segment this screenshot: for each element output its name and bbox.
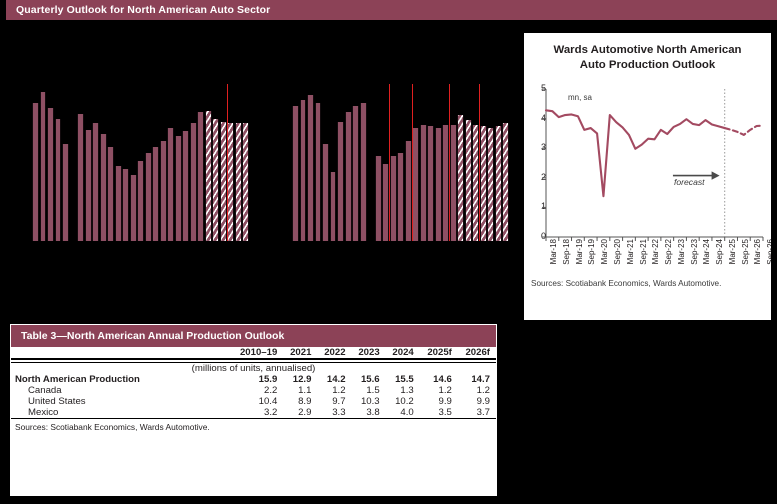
bar [55,119,62,241]
reference-line [227,84,228,241]
bar [137,161,144,241]
table-cell: 1.2 [317,385,351,396]
bar [62,144,69,241]
bar-chart-left [32,84,250,241]
bar [412,128,419,241]
bar [227,123,234,241]
bar [405,141,412,241]
x-axis-tick-label: Mar-21 [626,239,635,264]
x-axis-tick-label: Mar-25 [728,239,737,264]
table-cell: 15.5 [386,374,420,385]
production-table-card: Table 3—North American Annual Production… [10,324,497,496]
bar [502,123,509,241]
bar [457,115,464,241]
table-cell: 4.0 [386,407,420,418]
table-row: North American Production15.912.914.215.… [11,374,496,385]
table-cell: 9.9 [458,396,496,407]
bar [242,123,249,241]
table-cell: 10.3 [352,396,386,407]
bar [465,120,472,241]
bar [292,106,299,241]
table-row-label: Canada [11,385,229,396]
bar [307,95,314,241]
table-col-header: 2022 [317,347,351,359]
table-col-header: 2021 [283,347,317,359]
table-row: United States10.48.99.710.310.29.99.9 [11,396,496,407]
line-chart-sources: Sources: Scotiabank Economics, Wards Aut… [531,278,763,290]
x-axis-tick-label: Mar-26 [753,239,762,264]
screenshot-root: Quarterly Outlook for North American Aut… [0,0,777,504]
bar-chart-left-bars [32,84,250,241]
bar [495,126,502,241]
table-cell: 10.4 [229,396,283,407]
bar [205,111,212,241]
bar [235,123,242,241]
table-col-header: 2024 [386,347,420,359]
bar [160,141,167,241]
table-cell: 8.9 [283,396,317,407]
x-axis-tick-label: Sep-25 [741,239,750,265]
bar [435,128,442,241]
table-body: (millions of units, annualised)North Ame… [11,359,496,418]
x-axis-tick-label: Sep-22 [664,239,673,265]
bar [40,92,47,241]
table-row-label: North American Production [11,374,229,385]
bar [212,119,219,241]
table-row-label: Mexico [11,407,229,418]
line-chart-card: Wards Automotive North American Auto Pro… [524,33,771,320]
table-cell: 3.2 [229,407,283,418]
x-axis-tick-label: Mar-22 [651,239,660,264]
production-table: 2010–1920212022202320242025f2026f (milli… [11,347,496,418]
table-sources: Sources: Scotiabank Economics, Wards Aut… [11,418,496,435]
x-axis-tick-label: Mar-23 [677,239,686,264]
table-header-row: 2010–1920212022202320242025f2026f [11,347,496,359]
bar-chart-right-bars [292,84,510,241]
bar [167,128,174,241]
x-axis-tick-label: Sep-18 [562,239,571,265]
table-title: Table 3—North American Annual Production… [11,325,496,347]
x-axis-tick-label: Sep-23 [690,239,699,265]
x-axis-tick-label: Mar-20 [600,239,609,264]
bar [130,175,137,241]
reference-line [389,84,390,241]
table-cell: 15.9 [229,374,283,385]
table-cell: 1.2 [458,385,496,396]
bar [397,153,404,241]
bar [300,100,307,241]
bar [450,125,457,241]
table-cell: 14.7 [458,374,496,385]
bar [47,108,54,241]
table-row-label: United States [11,396,229,407]
table-col-header: 2026f [458,347,496,359]
bar [85,130,92,241]
table-units-row: (millions of units, annualised) [11,362,496,374]
table-cell: 1.2 [420,385,458,396]
table-cell: 1.3 [386,385,420,396]
table-cell: 14.6 [420,374,458,385]
bar [190,123,197,241]
table-cell: 10.2 [386,396,420,407]
bar [420,125,427,241]
x-axis-tick-label: Sep-19 [587,239,596,265]
table-cell: 14.2 [317,374,351,385]
table-col-header: 2025f [420,347,458,359]
reference-line [479,84,480,241]
x-axis-tick-label: Sep-24 [715,239,724,265]
x-axis-tick-label: Mar-18 [549,239,558,264]
bar [315,103,322,241]
table-cell: 12.9 [283,374,317,385]
table-col-header: 2010–19 [229,347,283,359]
bar [115,166,122,241]
bar [472,125,479,241]
bar [337,122,344,241]
table-cell: 3.7 [458,407,496,418]
bar [182,131,189,241]
x-axis-tick-label: Sep-21 [639,239,648,265]
table-cell: 1.5 [352,385,386,396]
bar [122,169,129,241]
table-row: Canada2.21.11.21.51.31.21.2 [11,385,496,396]
reference-line [449,84,450,241]
bar [92,123,99,241]
table-cell: 2.9 [283,407,317,418]
bar [330,172,337,241]
x-axis-tick-label: Mar-19 [575,239,584,264]
bar [427,126,434,241]
table-cell: 3.8 [352,407,386,418]
table-col-header-label [11,347,229,359]
bar [442,125,449,241]
bar [77,114,84,241]
bar [480,126,487,241]
x-axis-tick-label: Sep-20 [613,239,622,265]
line-chart-title-line1: Wards Automotive North American [536,43,759,58]
table-cell: 15.6 [352,374,386,385]
line-chart-title: Wards Automotive North American Auto Pro… [524,33,771,73]
bar [375,156,382,241]
bar [382,164,389,241]
table-cell: 9.7 [317,396,351,407]
line-chart-plot: mn, sa forecast 012345 Mar-18Sep-18Mar-1… [524,85,771,285]
bar [487,128,494,241]
table-cell: 3.5 [420,407,458,418]
bar [197,112,204,241]
table-row: Mexico3.22.93.33.84.03.53.7 [11,407,496,418]
reference-line [412,84,413,241]
bar [322,144,329,241]
x-axis-tick-label: Sep-26 [766,239,771,265]
bar [100,134,107,241]
table-cell: 1.1 [283,385,317,396]
bar [175,136,182,241]
bar [145,153,152,241]
bar [152,147,159,241]
x-axis-tick-label: Mar-24 [702,239,711,264]
line-chart-title-line2: Auto Production Outlook [536,58,759,73]
bar [32,103,39,241]
bar [345,112,352,241]
table-cell: 2.2 [229,385,283,396]
bar [352,106,359,241]
table-units-note: (millions of units, annualised) [11,362,496,374]
table-col-header: 2023 [352,347,386,359]
bar-chart-right [292,84,510,241]
table-cell: 9.9 [420,396,458,407]
page-title-banner: Quarterly Outlook for North American Aut… [6,0,777,20]
bar [107,147,114,241]
bar [220,122,227,241]
bar [360,103,367,241]
bar [390,156,397,241]
table-cell: 3.3 [317,407,351,418]
